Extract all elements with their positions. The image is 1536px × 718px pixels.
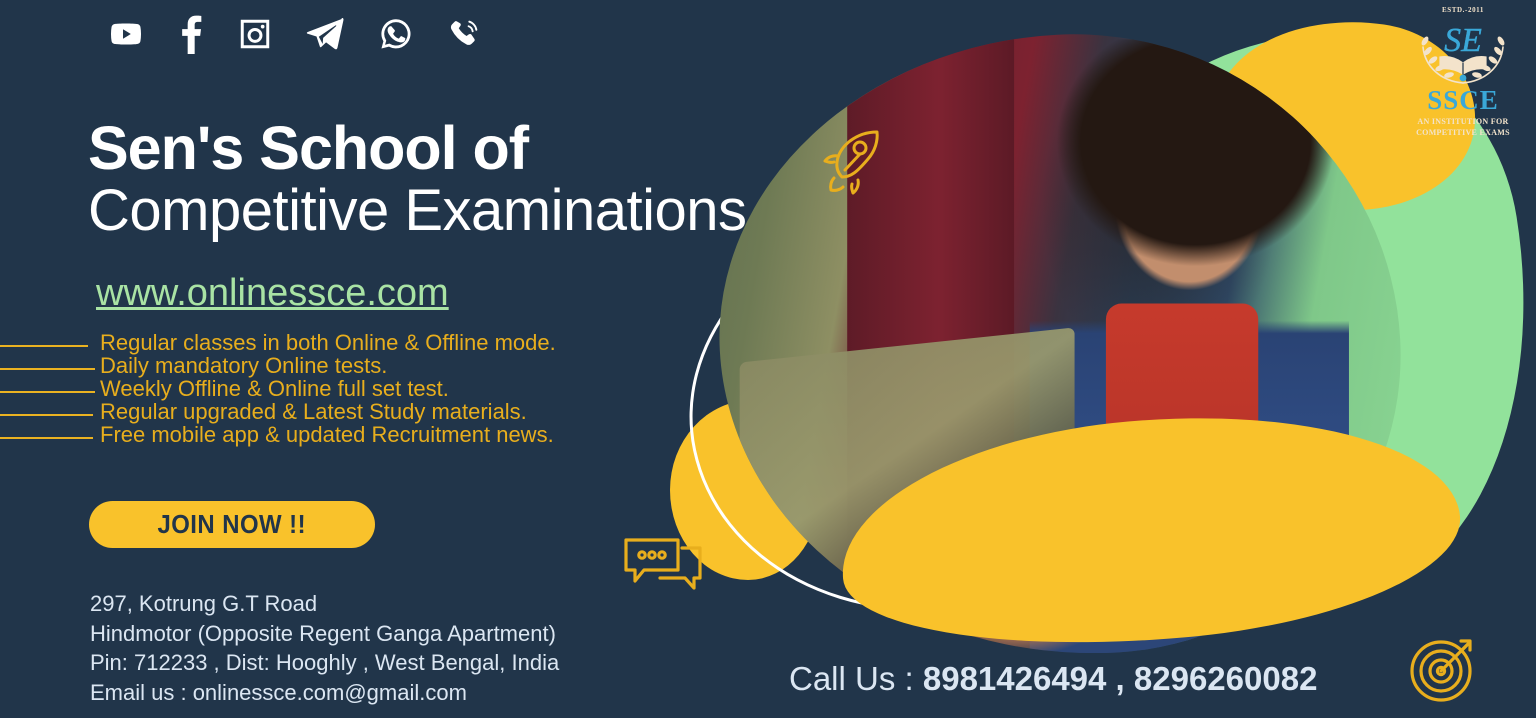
call-us-label: Call Us :: [789, 660, 923, 697]
logo-tagline-line2: COMPETITIVE EXAMS: [1404, 128, 1522, 139]
phone-call-icon: [448, 17, 482, 51]
logo-monogram: SE: [1444, 22, 1482, 59]
feature-rule: [0, 345, 88, 347]
promotional-banner: ESTD.-2011: [0, 0, 1536, 718]
feature-rule: [0, 414, 93, 416]
list-item: Free mobile app & updated Recruitment ne…: [0, 424, 700, 447]
facebook-icon: [178, 14, 204, 54]
feature-rule: [0, 391, 95, 393]
instagram-icon: [238, 17, 272, 51]
target-arrow-icon: [1406, 628, 1484, 706]
address-line-email[interactable]: Email us : onlinessce.com@gmail.com: [90, 678, 559, 708]
list-item: Regular upgraded & Latest Study material…: [0, 401, 700, 424]
social-link-telegram[interactable]: [306, 17, 344, 51]
feature-rule: [0, 368, 95, 370]
feature-rule: [0, 437, 93, 439]
address-block: 297, Kotrung G.T Road Hindmotor (Opposit…: [90, 589, 559, 708]
chat-bubbles-icon: [620, 534, 706, 600]
logo-estd-text: ESTD.-2011: [1404, 6, 1522, 14]
address-line-street: 297, Kotrung G.T Road: [90, 589, 559, 619]
join-now-button[interactable]: JOIN NOW !!: [89, 501, 375, 548]
features-list: Regular classes in both Online & Offline…: [0, 332, 700, 447]
logo-tagline: AN INSTITUTION FOR COMPETITIVE EXAMS: [1404, 117, 1522, 139]
social-link-call[interactable]: [448, 17, 482, 51]
page-title-line1: Sen's School of: [88, 118, 528, 179]
feature-text: Free mobile app & updated Recruitment ne…: [100, 422, 554, 448]
rocket-icon: [818, 126, 890, 200]
social-link-facebook[interactable]: [178, 14, 204, 54]
page-title-line2: Competitive Examinations: [88, 182, 747, 240]
phone-numbers[interactable]: 8981426494 , 8296260082: [923, 660, 1318, 697]
join-now-button-label: JOIN NOW !!: [158, 509, 307, 540]
call-us-block: Call Us : 8981426494 , 8296260082: [789, 660, 1317, 698]
social-link-whatsapp[interactable]: [378, 16, 414, 52]
whatsapp-icon: [378, 16, 414, 52]
youtube-icon: [108, 16, 144, 52]
social-link-youtube[interactable]: [108, 16, 144, 52]
list-item: Regular classes in both Online & Offline…: [0, 332, 700, 355]
logo-tagline-line1: AN INSTITUTION FOR: [1404, 117, 1522, 128]
address-line-region: Pin: 712233 , Dist: Hooghly , West Benga…: [90, 648, 559, 678]
address-line-locality: Hindmotor (Opposite Regent Ganga Apartme…: [90, 619, 559, 649]
social-link-instagram[interactable]: [238, 17, 272, 51]
social-links-row: [108, 14, 482, 54]
website-link[interactable]: www.onlinessce.com: [96, 272, 449, 315]
telegram-icon: [306, 17, 344, 51]
list-item: Weekly Offline & Online full set test.: [0, 378, 700, 401]
logo-name-text: SSCE: [1404, 87, 1522, 114]
ssce-logo: ESTD.-2011: [1404, 6, 1522, 139]
list-item: Daily mandatory Online tests.: [0, 355, 700, 378]
logo-emblem: SE: [1404, 15, 1522, 89]
